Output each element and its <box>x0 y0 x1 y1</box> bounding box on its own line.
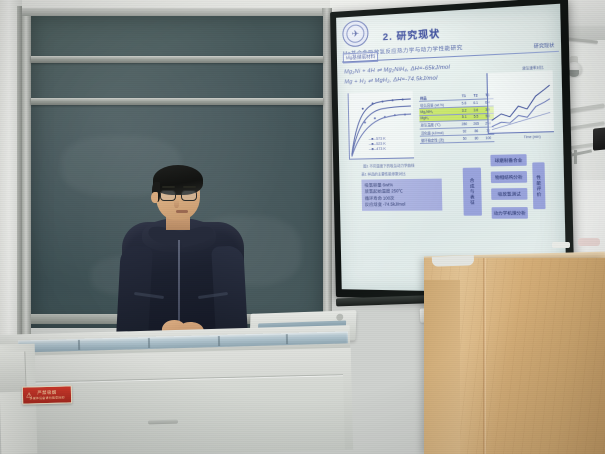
table-row: 循环稳定性 (次) 50 80 100 <box>420 134 495 143</box>
chalkboard-rail <box>31 56 323 63</box>
right-chart-xlabel: Time (min) <box>524 135 541 140</box>
flow-step: 球磨制备合金 <box>490 154 526 166</box>
slide-title: 2. 研究现状 <box>383 26 441 44</box>
legend-item: 473 K <box>369 147 386 152</box>
cell: 50 <box>459 135 471 143</box>
ear <box>151 192 158 203</box>
flow-step: 吸放氢测试 <box>491 188 527 200</box>
table-caption: 表1 样品的主要性能参数对比 <box>361 171 405 177</box>
cell: 80 <box>471 135 483 143</box>
screen-surface: ✈ 2. 研究现状 Mg基合金吸放氢反应热力学与动力学性能研究 Mg基储氢材料 … <box>336 4 566 294</box>
warning-line-2: 多媒体设备请勿随意拆卸 <box>29 396 64 401</box>
equation-2: Mg + H₂ ⇌ MgH₂, ΔH=-74.5kJ/mol <box>344 75 437 85</box>
kinetics-legend: 573 K 523 K 473 K <box>369 137 386 153</box>
warning-sticker: ⚠ 严禁吸烟 多媒体设备请勿随意拆卸 <box>22 385 72 404</box>
small-object <box>578 238 600 246</box>
flow-side-label: 性能评价 <box>532 162 545 209</box>
wall-bracket <box>574 150 577 164</box>
classroom-photo: ✈ 2. 研究现状 Mg基合金吸放氢反应热力学与动力学性能研究 Mg基储氢材料 … <box>0 0 605 454</box>
small-object <box>552 242 570 248</box>
lectern-left-panel <box>424 280 460 454</box>
results-table: 样品 T1 T2 T3 吸氢容量 (wt.%) 5.8 6.1 <box>419 92 494 144</box>
summary-line: 反应焓变 -74.5kJ/mol <box>365 201 439 208</box>
glasses-icon <box>160 190 200 202</box>
flow-stack-label: 合成与表征 <box>463 168 482 216</box>
nose <box>174 199 179 208</box>
desorption-curves <box>488 70 554 133</box>
flow-stack-text: 合成与表征 <box>469 178 476 205</box>
university-seal-icon: ✈ <box>342 20 369 48</box>
presentation-slide: ✈ 2. 研究现状 Mg基合金吸放氢反应热力学与动力学性能研究 Mg基储氢材料 … <box>336 4 566 294</box>
lectern-notch <box>432 255 474 266</box>
flow-side-text: 性能评价 <box>535 175 542 197</box>
lectern-edge <box>483 258 486 454</box>
right-chart-caption: 放氢速率对比 <box>522 64 543 70</box>
flow-step: 动力学机理分析 <box>492 207 528 219</box>
slide-corner-label: 研究现状 <box>534 43 555 50</box>
cell: 100 <box>482 134 494 142</box>
board-frame-top <box>22 8 332 16</box>
mouth <box>176 210 188 213</box>
summary-box: 吸氢容量 6wt% 放氢起始温度 250℃ 循环寿命 100次 反应焓变 -74… <box>361 179 442 211</box>
board-frame-left <box>22 8 31 380</box>
kinetics-caption: 图1 不同温度下的吸氢动力学曲线 <box>363 163 414 169</box>
cell: 循环稳定性 (次) <box>420 135 459 143</box>
chalkboard-rail <box>31 98 323 105</box>
warning-icon: ⚠ <box>26 391 32 399</box>
eyebrow <box>183 186 196 188</box>
lens-right <box>181 190 197 201</box>
wall-speaker-icon <box>593 127 605 150</box>
seal-glyph: ✈ <box>351 29 359 38</box>
eyebrow <box>162 186 175 188</box>
desk-handle[interactable] <box>148 420 178 425</box>
desorption-chart <box>486 70 554 134</box>
flow-step: 物相结构分析 <box>491 171 527 183</box>
equation-1: Mg₂Ni + 4H ⇌ Mg₂NiH₄, ΔH=-65kJ/mol <box>344 64 450 75</box>
